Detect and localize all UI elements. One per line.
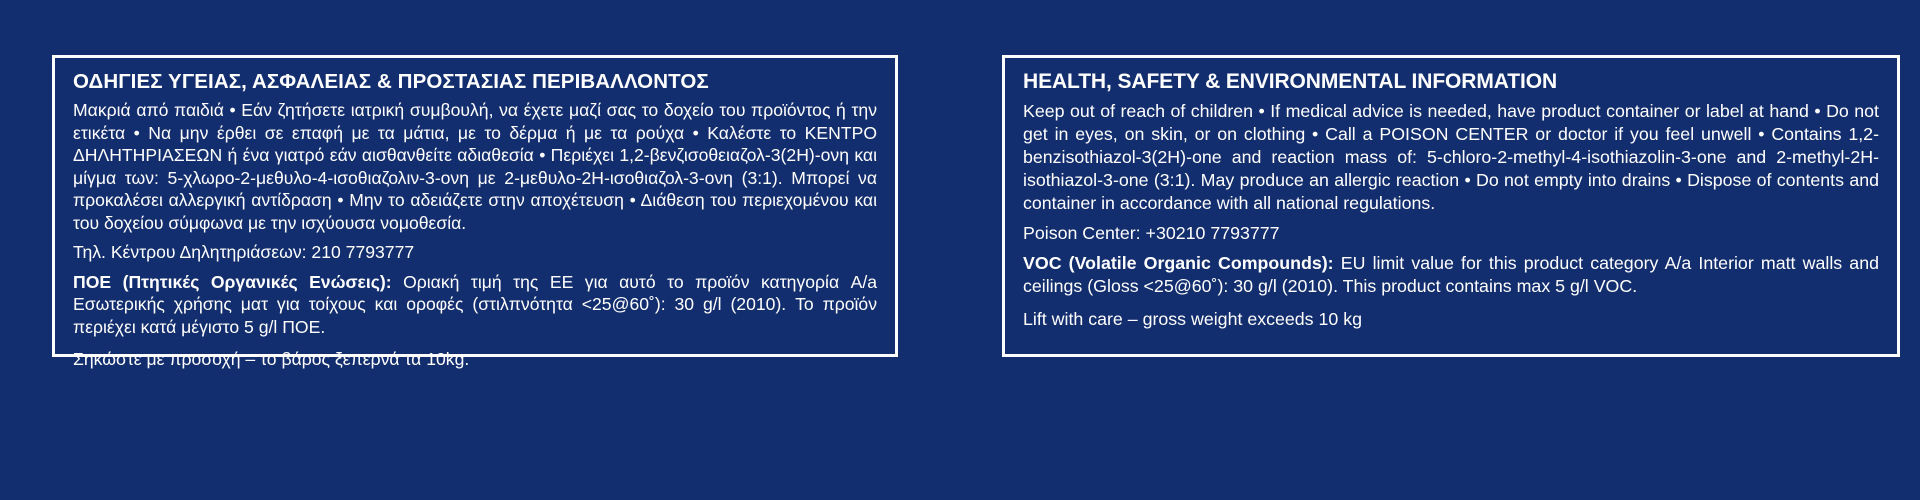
- english-poison-center-line: Poison Center: +30210 7793777: [1023, 222, 1879, 245]
- greek-voc-label: ΠΟΕ (Πτητικές Οργανικές Ενώσεις):: [73, 272, 392, 292]
- english-hse-panel: HEALTH, SAFETY & ENVIRONMENTAL INFORMATI…: [1002, 55, 1900, 357]
- english-safety-statements: Keep out of reach of children • If medic…: [1023, 100, 1879, 216]
- greek-poison-center-line: Τηλ. Κέντρου Δηλητηριάσεων: 210 7793777: [73, 241, 877, 264]
- greek-voc-paragraph: ΠΟΕ (Πτητικές Οργανικές Ενώσεις): Οριακή…: [73, 271, 877, 339]
- greek-hse-panel: ΟΔΗΓΙΕΣ ΥΓΕΙΑΣ, ΑΣΦΑΛΕΙΑΣ & ΠΡΟΣΤΑΣΙΑΣ Π…: [52, 55, 898, 357]
- english-lift-warning: Lift with care – gross weight exceeds 10…: [1023, 308, 1879, 331]
- greek-panel-title: ΟΔΗΓΙΕΣ ΥΓΕΙΑΣ, ΑΣΦΑΛΕΙΑΣ & ΠΡΟΣΤΑΣΙΑΣ Π…: [73, 70, 877, 94]
- english-voc-label: VOC (Volatile Organic Compounds):: [1023, 253, 1334, 273]
- greek-safety-statements: Μακριά από παιδιά • Εάν ζητήσετε ιατρική…: [73, 99, 877, 234]
- greek-lift-warning: Σηκώστε με προσοχή – το βάρος ξεπερνά τα…: [73, 348, 877, 371]
- english-voc-paragraph: VOC (Volatile Organic Compounds): EU lim…: [1023, 252, 1879, 298]
- english-panel-title: HEALTH, SAFETY & ENVIRONMENTAL INFORMATI…: [1023, 70, 1879, 95]
- label-artwork-root: ΟΔΗΓΙΕΣ ΥΓΕΙΑΣ, ΑΣΦΑΛΕΙΑΣ & ΠΡΟΣΤΑΣΙΑΣ Π…: [0, 0, 1920, 500]
